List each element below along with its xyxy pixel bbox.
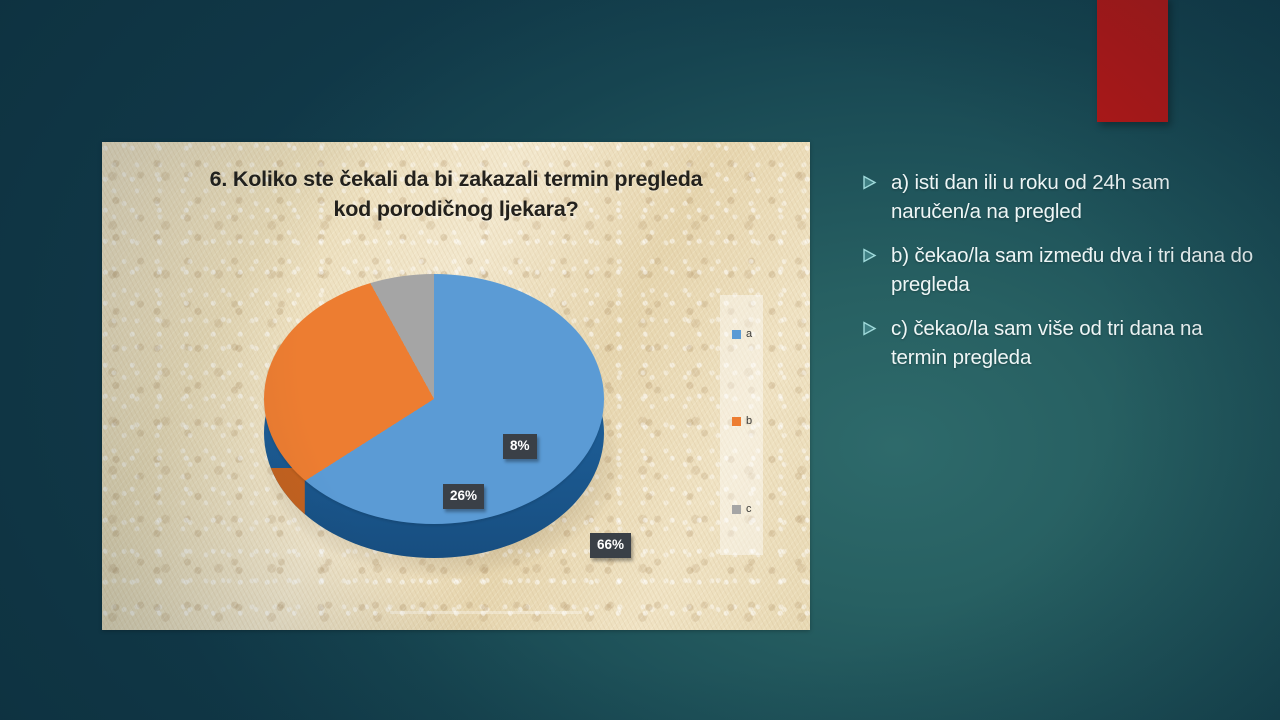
chart-legend: a b c xyxy=(720,295,763,555)
list-item-label: b) čekao/la sam između dva i tri dana do… xyxy=(891,241,1262,299)
legend-label-c: c xyxy=(746,504,752,515)
legend-swatch-b xyxy=(732,417,741,426)
chart-image-panel[interactable]: 6. Koliko ste čekali da bi zakazali term… xyxy=(102,142,810,630)
list-item[interactable]: b) čekao/la sam između dva i tri dana do… xyxy=(862,241,1262,299)
pie-data-label-b: 26% xyxy=(443,484,484,509)
legend-label-b: b xyxy=(746,416,752,427)
pie-chart: 66% 26% 8% xyxy=(260,252,620,592)
legend-item-c[interactable]: c xyxy=(732,504,752,515)
chart-title-line-1: 6. Koliko ste čekali da bi zakazali term… xyxy=(142,164,770,194)
red-accent-block xyxy=(1097,0,1168,122)
pie-data-label-a: 66% xyxy=(590,533,631,558)
list-item[interactable]: c) čekao/la sam više od tri dana na term… xyxy=(862,314,1262,372)
legend-item-a[interactable]: a xyxy=(732,329,752,340)
list-item-label: a) isti dan ili u roku od 24h sam naruče… xyxy=(891,168,1262,226)
chart-title: 6. Koliko ste čekali da bi zakazali term… xyxy=(142,164,770,224)
answer-options-list: a) isti dan ili u roku od 24h sam naruče… xyxy=(862,168,1262,387)
triangle-right-icon xyxy=(862,175,877,195)
list-item[interactable]: a) isti dan ili u roku od 24h sam naruče… xyxy=(862,168,1262,226)
pie-data-label-c: 8% xyxy=(503,434,537,459)
panel-bottom-sheen xyxy=(390,611,582,614)
slide-canvas: 6. Koliko ste čekali da bi zakazali term… xyxy=(0,0,1280,720)
triangle-right-icon xyxy=(862,321,877,341)
legend-swatch-c xyxy=(732,505,741,514)
triangle-right-icon xyxy=(862,248,877,268)
list-item-label: c) čekao/la sam više od tri dana na term… xyxy=(891,314,1262,372)
legend-label-a: a xyxy=(746,329,752,340)
legend-swatch-a xyxy=(732,330,741,339)
pie-top-face xyxy=(264,274,604,524)
chart-title-line-2: kod porodičnog ljekara? xyxy=(142,194,770,224)
legend-item-b[interactable]: b xyxy=(732,416,752,427)
